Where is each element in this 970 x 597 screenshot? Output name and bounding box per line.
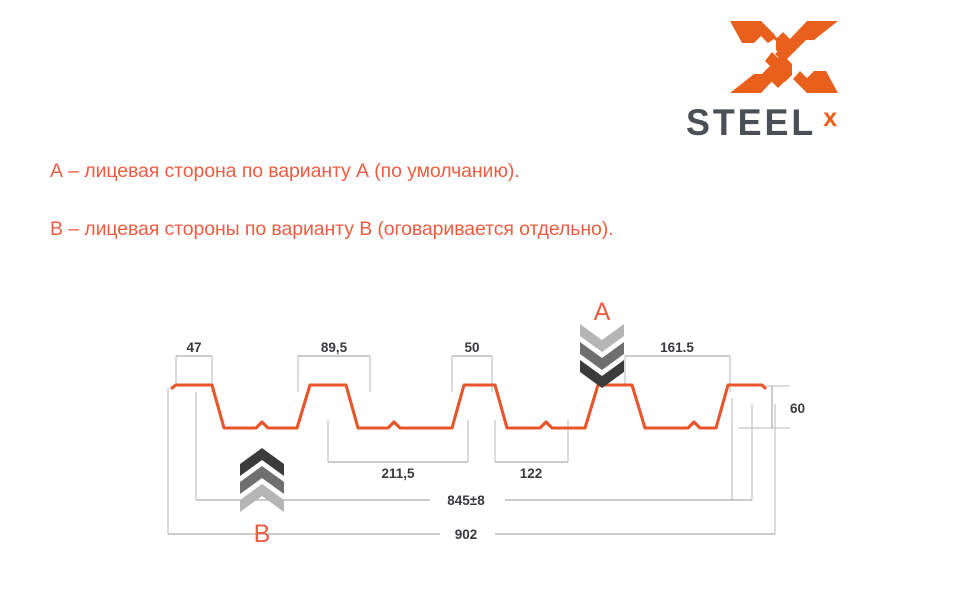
steelx-x-mark-icon xyxy=(728,18,840,96)
dimension-label: 50 xyxy=(464,340,479,355)
mid-dimension-2115: 211,5 xyxy=(328,462,468,481)
dimension-label: 122 xyxy=(520,466,543,481)
dimension-label: 89,5 xyxy=(321,340,348,355)
marker-b: В xyxy=(240,448,284,548)
top-dimension-895: 89,5 xyxy=(298,340,370,356)
marker-a-chevrons-down-icon xyxy=(580,324,624,388)
dimension-label: 161.5 xyxy=(660,340,694,355)
brand-wordmark: STEELx xyxy=(686,104,886,144)
dimension-label: 60 xyxy=(790,401,805,416)
top-dimension-1615: 161.5 xyxy=(625,340,730,356)
wordmark-superscript-x: x xyxy=(823,104,837,133)
marker-b-chevrons-up-icon xyxy=(240,448,284,512)
caption-variant-a: А – лицевая сторона по варианту А (по ум… xyxy=(50,160,520,183)
marker-a-letter: А xyxy=(594,298,611,326)
wordmark-steel: STEEL xyxy=(686,104,816,142)
height-dimension-60: 60 xyxy=(772,386,805,428)
marker-b-letter: В xyxy=(254,520,271,548)
top-dimension-50: 50 xyxy=(452,340,492,356)
dimension-label: 902 xyxy=(455,527,478,542)
dimension-label: 211,5 xyxy=(381,466,415,481)
dimension-label: 47 xyxy=(186,340,201,355)
caption-variant-b: В – лицевая стороны по варианту В (огова… xyxy=(50,218,613,241)
marker-a: А xyxy=(580,298,624,388)
dimension-label: 845±8 xyxy=(447,493,485,508)
top-dimension-47: 47 xyxy=(176,340,212,356)
profile-technical-drawing: 47 89,5 50 161.5 211,5 122 845±8 902 60 xyxy=(0,270,970,570)
brand-logo: STEELx xyxy=(686,18,886,143)
mid-dimension-122: 122 xyxy=(495,462,568,481)
